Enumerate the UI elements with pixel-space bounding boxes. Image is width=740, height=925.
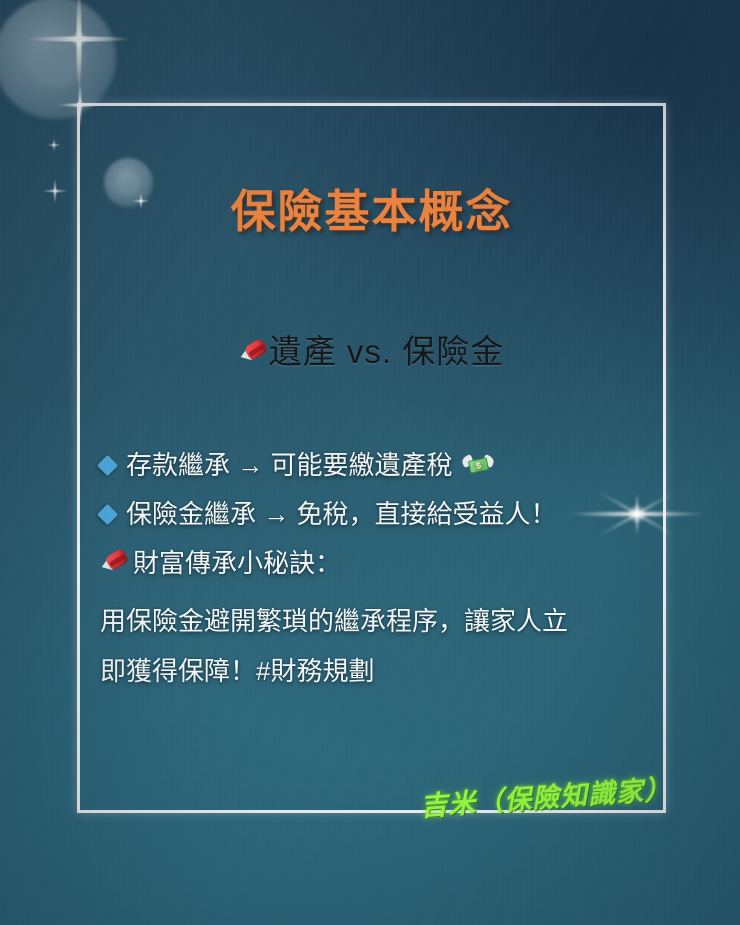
paragraph-line: 即獲得保障！#財務規劃: [100, 646, 630, 696]
list-item-label: 存款繼承 → 可能要繳遺產稅: [126, 441, 452, 490]
paragraph-line: 用保險金避開繁瑣的繼承程序，讓家人立: [100, 596, 630, 646]
pushpin-icon: [239, 339, 269, 369]
bubble-decoration-large: [0, 0, 116, 119]
blue-diamond-icon: [97, 504, 118, 525]
tip-heading: 財富傳承小秘訣：: [100, 539, 650, 588]
blue-diamond-icon: [97, 455, 118, 476]
list-item: 存款繼承 → 可能要繳遺產稅: [100, 441, 650, 490]
sparkle-icon-left: [54, 190, 56, 192]
poster-canvas: 保險基本概念 遺產 vs. 保險金 存款繼承 → 可能要繳遺產稅 保險金繼承 →…: [0, 0, 740, 925]
pushpin-icon: [100, 549, 130, 579]
money-with-wings-icon: [463, 454, 493, 478]
bullet-list: 存款繼承 → 可能要繳遺產稅 保險金繼承 → 免稅，直接給受益人！ 財富傳承小秘…: [100, 441, 650, 696]
subtitle-label: 遺產 vs. 保險金: [269, 333, 505, 370]
sparkle-icon-large: [78, 38, 80, 40]
sparkle-icon-mini-b: [53, 144, 55, 146]
tip-heading-label: 財富傳承小秘訣：: [133, 539, 341, 588]
poster-content: 保險基本概念 遺產 vs. 保險金 存款繼承 → 可能要繳遺產稅 保險金繼承 →…: [77, 103, 666, 813]
list-item-label: 保險金繼承 → 免稅，直接給受益人！: [126, 490, 556, 539]
page-title: 保險基本概念: [77, 175, 666, 240]
body-paragraph: 用保險金避開繁瑣的繼承程序，讓家人立 即獲得保障！#財務規劃: [100, 596, 630, 696]
list-item: 保險金繼承 → 免稅，直接給受益人！: [100, 490, 650, 539]
subtitle: 遺產 vs. 保險金: [77, 325, 666, 373]
